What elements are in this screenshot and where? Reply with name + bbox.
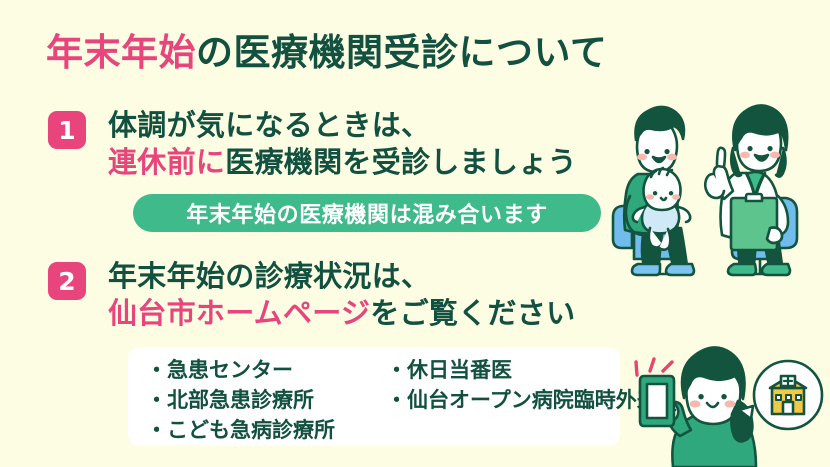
item-1-line-1: 体調が気になるときは、 [108,107,577,144]
notice-banner: 年末年始の医療機関は混み合います [133,194,601,232]
item-2-line-2-highlight: 仙台市ホームページ [108,296,370,330]
facility-list-item: ・こども急病診療所 [146,416,364,446]
facility-list-columns: ・急患センター ・北部急患診療所 ・こども急病診療所 ・休日当番医 ・仙台オープ… [146,356,658,445]
item-2-line-2-rest: をご覧ください [370,296,575,330]
poster-canvas: 年末年始の医療機関受診について 1 体調が気になるときは、 連休前に医療機関を受… [0,0,830,467]
item-1-line-2: 連休前に医療機関を受診しましょう [108,144,577,181]
woman-smartphone-illustration [620,338,830,467]
item-number-badge-1-label: 1 [58,118,75,143]
item-2-line-1: 年末年始の診療状況は、 [108,258,575,295]
facility-list-column-left: ・急患センター ・北部急患診療所 ・こども急病診療所 [146,356,364,445]
facility-list-item: ・休日当番医 [386,356,658,386]
item-1-line-2-rest: 医療機関を受診しましょう [225,145,577,179]
page-title: 年末年始の医療機関受診について [46,32,607,73]
facility-list-item: ・北部急患診療所 [146,386,364,416]
page-title-rest: の医療機関受診について [196,31,607,74]
page-title-highlight: 年末年始 [46,31,196,74]
facility-list-item: ・仙台オープン病院臨時外来 [386,386,658,416]
notice-banner-text: 年末年始の医療機関は混み合います [186,197,548,229]
item-1-line-2-highlight: 連休前に [108,145,225,179]
facility-list-column-right: ・休日当番医 ・仙台オープン病院臨時外来 [386,356,658,445]
item-2-line-2: 仙台市ホームページをご覧ください [108,295,575,332]
item-number-badge-2-label: 2 [58,269,75,294]
facility-list-card: ・急患センター ・北部急患診療所 ・こども急病診療所 ・休日当番医 ・仙台オープ… [128,347,620,446]
item-number-badge-1: 1 [48,111,86,149]
facility-list-item: ・急患センター [146,356,364,386]
parent-baby-doctor-illustration [600,78,830,283]
item-number-badge-2: 2 [48,262,86,300]
item-2-text: 年末年始の診療状況は、 仙台市ホームページをご覧ください [108,258,575,332]
item-1-text: 体調が気になるときは、 連休前に医療機関を受診しましょう [108,107,577,181]
